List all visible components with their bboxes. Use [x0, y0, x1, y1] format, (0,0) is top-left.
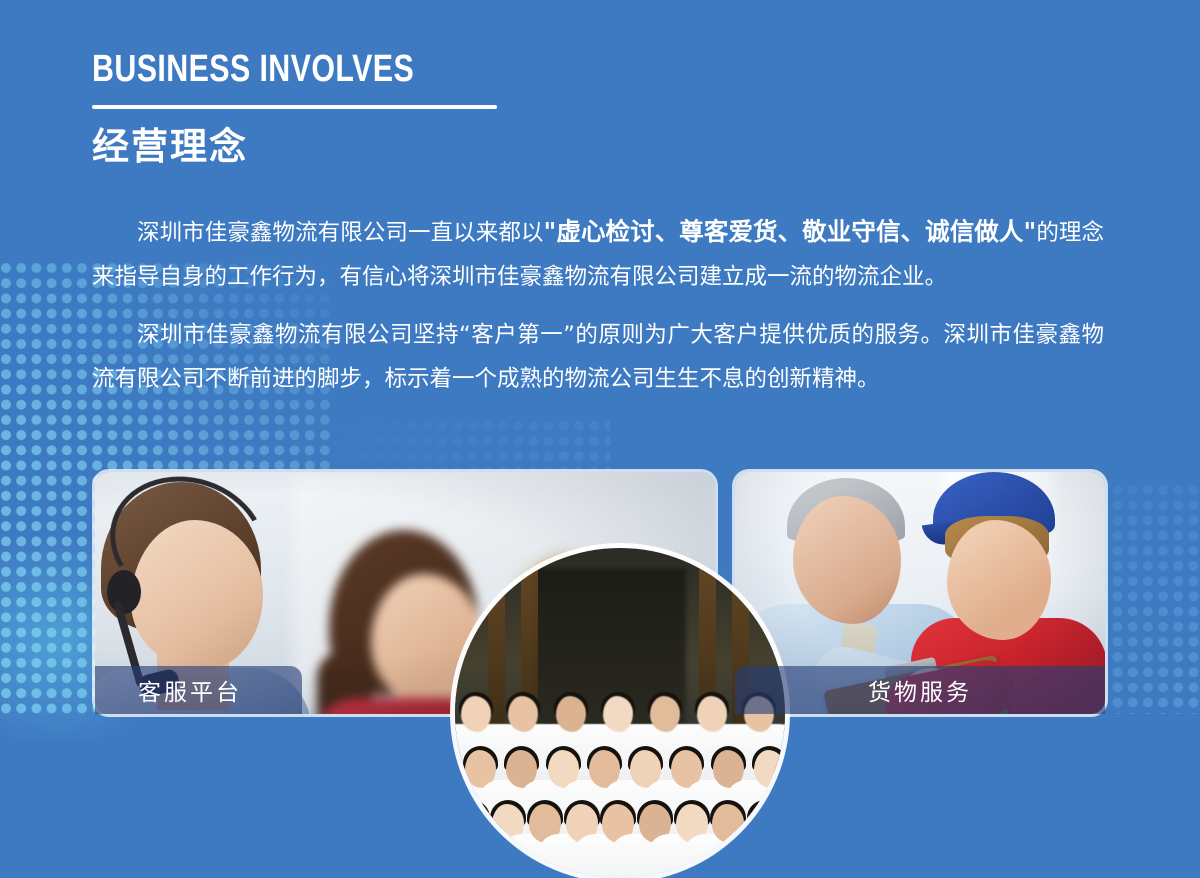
caption-label: 货物服务 — [868, 673, 972, 707]
paragraph1-lead: 深圳市佳豪鑫物流有限公司一直以来都以 — [137, 220, 544, 246]
group-member-head — [556, 696, 586, 732]
group-member-head — [650, 696, 680, 732]
body-copy: 深圳市佳豪鑫物流有限公司一直以来都以"虚心检讨、尊客爱货、敬业守信、诚信做人"的… — [92, 210, 1104, 401]
quote-close: " — [1023, 217, 1036, 246]
section-eyebrow-title: BUSINESS INVOLVES — [92, 50, 420, 88]
group-member-head — [697, 696, 727, 732]
group-member-head — [603, 696, 633, 732]
group-member-head — [749, 804, 781, 843]
paragraph-philosophy: 深圳市佳豪鑫物流有限公司一直以来都以"虚心检讨、尊客爱货、敬业守信、诚信做人"的… — [92, 210, 1104, 299]
group-member-torso — [720, 834, 785, 878]
section-header: BUSINESS INVOLVES 经营理念 — [92, 50, 502, 168]
paragraph-service: 深圳市佳豪鑫物流有限公司坚持“客户第一”的原则为广大客户提供优质的服务。深圳市佳… — [92, 313, 1104, 401]
section-title: 经营理念 — [92, 127, 502, 168]
caption-customer-service: 客服平台 — [95, 666, 302, 714]
paragraph1-quote: 虚心检讨、尊客爱货、敬业守信、诚信做人 — [556, 217, 1023, 246]
caption-label: 客服平台 — [138, 673, 242, 707]
caption-cargo-service: 货物服务 — [735, 666, 1105, 714]
header-divider — [92, 105, 497, 109]
group-member-head — [461, 696, 491, 732]
group-member-head — [508, 696, 538, 732]
group-member-head — [754, 750, 785, 788]
quote-open: " — [544, 217, 557, 246]
